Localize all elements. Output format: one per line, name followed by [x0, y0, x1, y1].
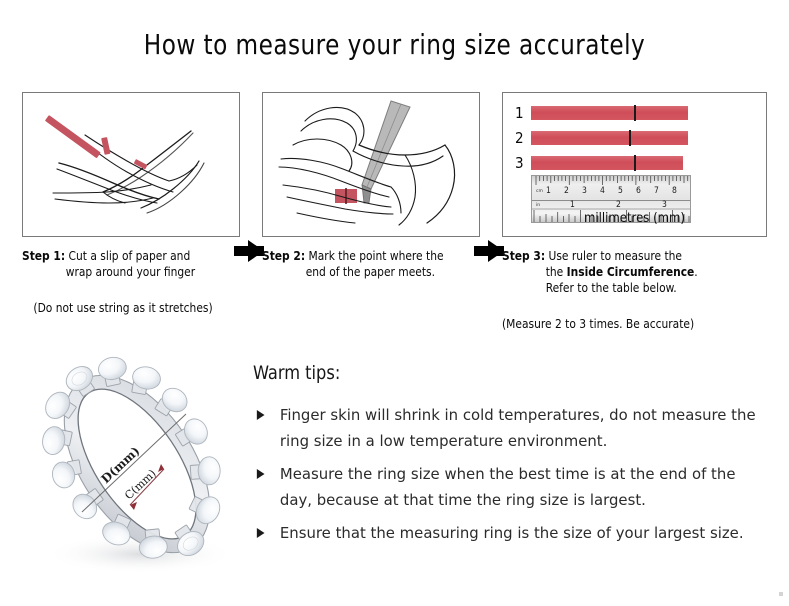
step-3-line2-post: . — [694, 264, 697, 279]
ruler-cm-tick: 5 — [618, 187, 623, 196]
step-3-caption: Step 3: Use ruler to measure the the Ins… — [502, 248, 754, 296]
tip-item: Ensure that the measuring ring is the si… — [253, 520, 760, 546]
ruler-cm-tick: 6 — [636, 187, 641, 196]
step-2-column: Step 2: Mark the point where the end of … — [262, 92, 480, 300]
ruler-cm-tick: 8 — [672, 187, 677, 196]
ring-diagram: D(mm) C(mm) — [18, 352, 256, 586]
step-1-note: (Do not use string as it stretches) — [22, 300, 229, 315]
paper-strip-bar — [531, 156, 683, 170]
ruler-cm-tick: 7 — [654, 187, 659, 196]
bullet-triangle-icon — [257, 410, 265, 420]
ruler-cm-ticks — [532, 176, 691, 200]
paper-strip-bar — [531, 131, 688, 145]
step-1-line1: Cut a slip of paper and — [69, 248, 191, 263]
step-2-illustration-panel — [262, 92, 480, 237]
step-1-line2: wrap around your finger — [22, 264, 229, 280]
tip-item: Finger skin will shrink in cold temperat… — [253, 402, 760, 454]
ring-diagram-svg: D(mm) C(mm) — [18, 352, 256, 586]
bar-number: 3 — [515, 156, 531, 171]
hand-with-paper-sketch — [23, 93, 239, 236]
corner-watermark — [773, 592, 783, 598]
bar-number: 1 — [515, 106, 531, 121]
measurement-bars: 1 2 3 — [515, 103, 688, 178]
ruler-cm-tick: 3 — [582, 187, 587, 196]
paper-strip-bar — [531, 106, 688, 120]
pen-mark — [634, 155, 636, 171]
ruler-cm-tick: 4 — [600, 187, 605, 196]
ruler-cm-scale: cm 1 2 3 4 5 6 7 8 — [532, 176, 690, 201]
tip-item: Measure the ring size when the best time… — [253, 461, 760, 513]
bar-number: 2 — [515, 131, 531, 146]
step-1-label: Step 1: — [22, 248, 65, 263]
hand-sketch-svg — [23, 93, 240, 237]
step-3-line3: Refer to the table below. — [502, 280, 754, 296]
tip-text: Ensure that the measuring ring is the si… — [280, 524, 744, 542]
step-2-line1: Mark the point where the — [309, 248, 444, 263]
tip-text: Measure the ring size when the best time… — [280, 465, 736, 509]
ruler-cm-tick: 1 — [546, 187, 551, 196]
bar-row: 3 — [515, 153, 688, 173]
warm-tips-title: Warm tips: — [253, 362, 755, 384]
ruler-unit-label: millimetres (mm) — [503, 211, 766, 226]
step-1-caption: Step 1: Cut a slip of paper and wrap aro… — [22, 248, 229, 280]
bar-row: 1 — [515, 103, 688, 123]
hand-with-pen-sketch — [263, 93, 479, 236]
step-2-label: Step 2: — [262, 248, 305, 263]
hand-pen-sketch-svg — [263, 93, 480, 237]
step-3-label: Step 3: — [502, 248, 545, 263]
step-3-column: 1 2 3 — [502, 92, 767, 331]
step-1-column: Step 1: Cut a slip of paper and wrap aro… — [22, 92, 240, 315]
ruler-cm-unit: cm — [536, 189, 543, 194]
warm-tips-section: Warm tips: Finger skin will shrink in co… — [253, 362, 781, 553]
page-title: How to measure your ring size accurately — [32, 28, 758, 61]
bullet-triangle-icon — [257, 528, 265, 538]
step-1-illustration-panel — [22, 92, 240, 237]
bullet-triangle-icon — [257, 469, 265, 479]
step-3-line2: the Inside Circumference. — [502, 264, 754, 280]
pen-shape — [362, 101, 410, 203]
tip-text: Finger skin will shrink in cold temperat… — [280, 406, 756, 450]
pen-mark — [629, 130, 631, 146]
bar-row: 2 — [515, 128, 688, 148]
inside-circumference-emphasis: Inside Circumference — [567, 264, 695, 279]
step-3-illustration-panel: 1 2 3 — [502, 92, 767, 237]
steps-row: Step 1: Cut a slip of paper and wrap aro… — [0, 92, 789, 342]
step-3-note: (Measure 2 to 3 times. Be accurate) — [502, 316, 754, 331]
step-3-line2-pre: the — [546, 264, 567, 279]
pen-mark — [634, 105, 636, 121]
step-2-line2: end of the paper meets. — [262, 264, 469, 280]
step-2-caption: Step 2: Mark the point where the end of … — [262, 248, 469, 280]
ruler-cm-tick: 2 — [564, 187, 569, 196]
step-3-line1: Use ruler to measure the — [549, 248, 682, 263]
